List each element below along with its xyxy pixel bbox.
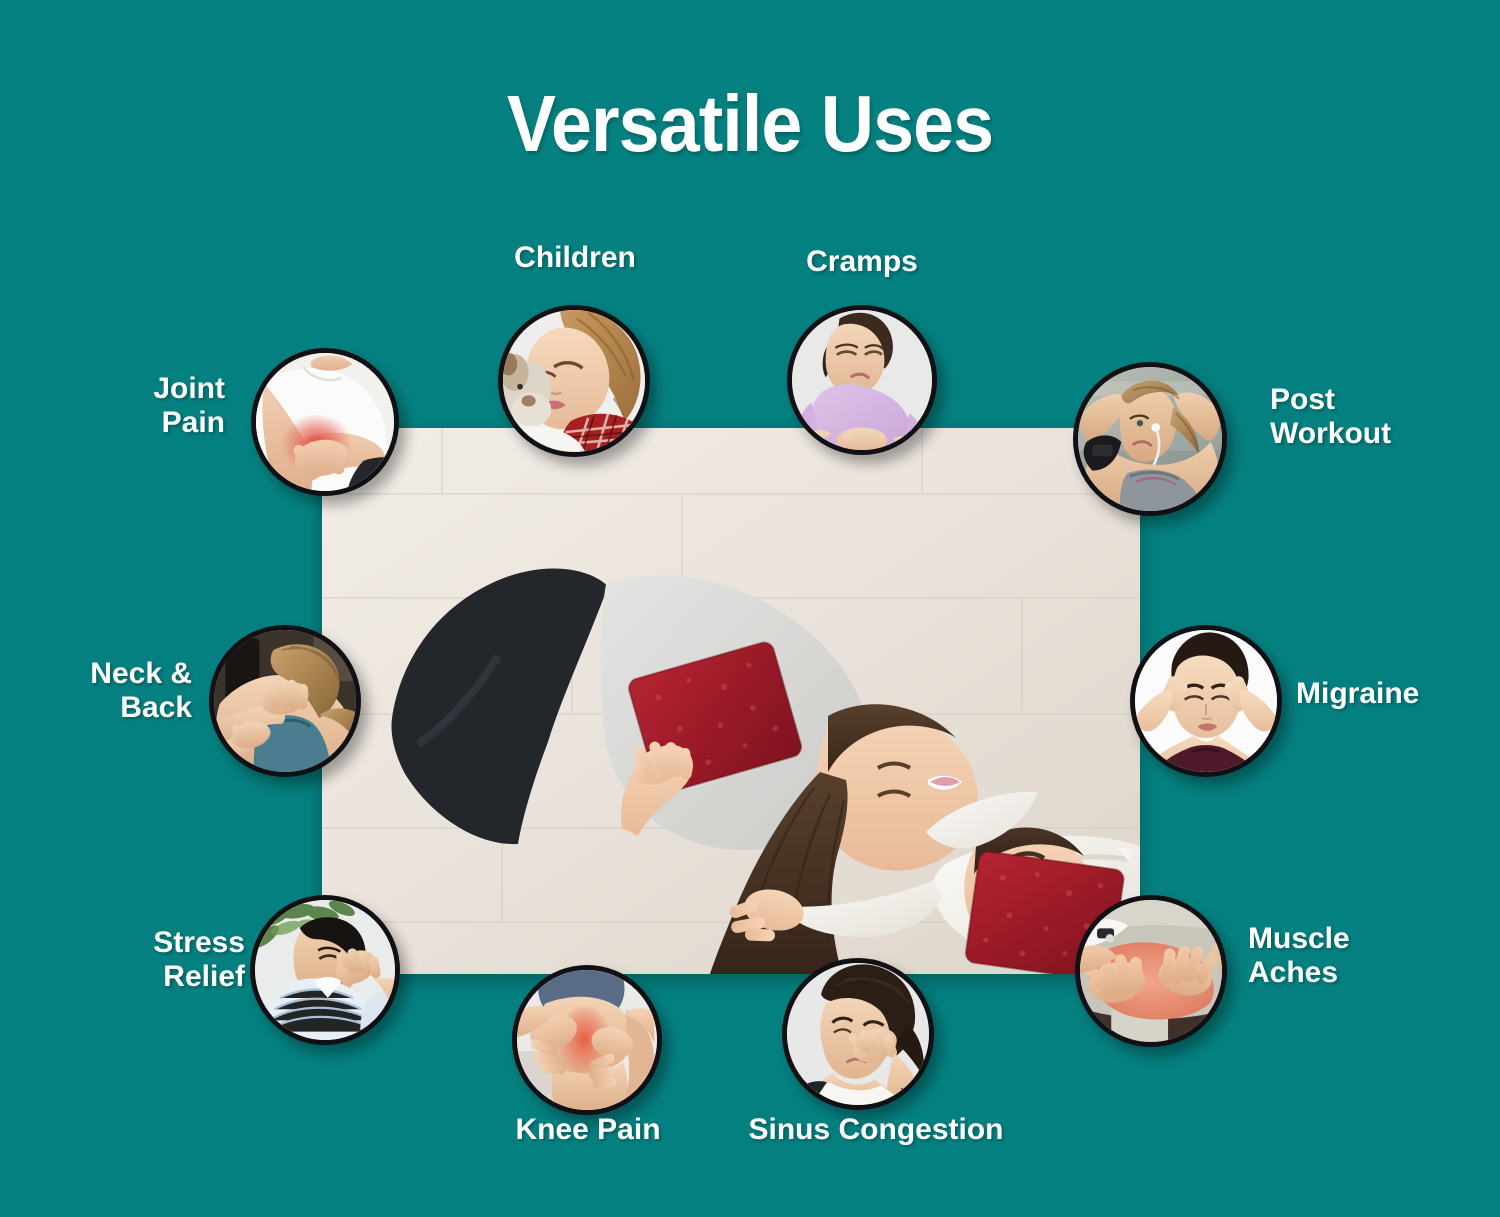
bubble-post-workout: [1073, 362, 1227, 516]
joint-pain-photo: [256, 353, 394, 491]
children-photo: [503, 310, 645, 452]
bubble-children: [498, 305, 650, 457]
bubble-migraine: [1130, 625, 1282, 777]
sinus-congestion-photo: [787, 963, 929, 1105]
versatile-uses-infographic: Versatile Uses: [0, 0, 1500, 1217]
stress-relief-photo: [255, 900, 395, 1040]
muscle-aches-photo: [1080, 900, 1222, 1042]
page-title: Versatile Uses: [60, 78, 1440, 170]
cramps-photo: [792, 310, 932, 450]
label-migraine: Migraine: [1296, 677, 1496, 711]
bubble-cramps: [787, 305, 937, 455]
label-joint-pain: Joint Pain: [30, 372, 225, 439]
bubble-stress-relief: [250, 895, 400, 1045]
bubble-neck-and-back: [209, 625, 361, 777]
knee-pain-photo: [517, 970, 657, 1110]
center-product-photo: [322, 428, 1140, 974]
migraine-photo: [1135, 630, 1277, 772]
label-post-workout: Post Workout: [1270, 383, 1490, 450]
neck-and-back-photo: [214, 630, 356, 772]
bubble-sinus-congestion: [782, 958, 934, 1110]
bubble-muscle-aches: [1075, 895, 1227, 1047]
label-neck-and-back: Neck & Back: [0, 657, 192, 724]
post-workout-photo: [1078, 367, 1222, 511]
bubble-knee-pain: [512, 965, 662, 1115]
label-cramps: Cramps: [737, 245, 987, 279]
label-sinus-congestion: Sinus Congestion: [726, 1113, 1026, 1147]
label-stress-relief: Stress Relief: [55, 926, 245, 993]
bubble-joint-pain: [251, 348, 399, 496]
label-children: Children: [450, 241, 700, 275]
label-muscle-aches: Muscle Aches: [1248, 922, 1448, 989]
label-knee-pain: Knee Pain: [468, 1113, 708, 1147]
